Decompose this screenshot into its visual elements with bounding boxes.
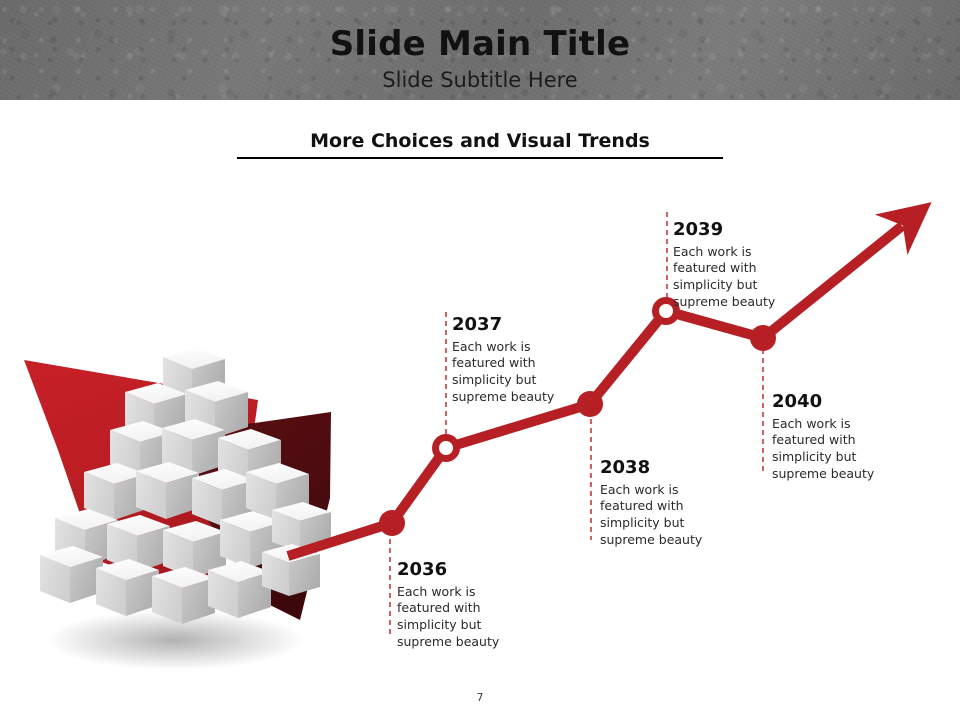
milestone-2037[interactable]: 2037 Each work is featured with simplici…	[452, 315, 584, 405]
milestone-description: Each work is featured with simplicity bu…	[600, 482, 732, 549]
milestone-description: Each work is featured with simplicity bu…	[673, 244, 805, 311]
milestone-description: Each work is featured with simplicity bu…	[772, 416, 904, 483]
node-marker-2040[interactable]	[750, 325, 776, 351]
milestone-year-label: 2039	[673, 220, 805, 240]
milestone-year-label: 2038	[600, 458, 732, 478]
node-marker-2036[interactable]	[379, 510, 405, 536]
milestone-2038[interactable]: 2038 Each work is featured with simplici…	[600, 458, 732, 548]
milestone-2040[interactable]: 2040 Each work is featured with simplici…	[772, 392, 904, 482]
page-subtitle: Slide Subtitle Here	[0, 68, 960, 92]
milestone-year-label: 2037	[452, 315, 584, 335]
milestone-year-label: 2036	[397, 560, 529, 580]
node-marker-2037[interactable]	[436, 438, 457, 459]
milestone-2036[interactable]: 2036 Each work is featured with simplici…	[397, 560, 529, 650]
page-title: Slide Main Title	[0, 24, 960, 64]
milestone-description: Each work is featured with simplicity bu…	[452, 339, 584, 406]
milestone-2039[interactable]: 2039 Each work is featured with simplici…	[673, 220, 805, 310]
page-number: 7	[0, 691, 960, 704]
milestone-description: Each work is featured with simplicity bu…	[397, 584, 529, 651]
milestone-year-label: 2040	[772, 392, 904, 412]
